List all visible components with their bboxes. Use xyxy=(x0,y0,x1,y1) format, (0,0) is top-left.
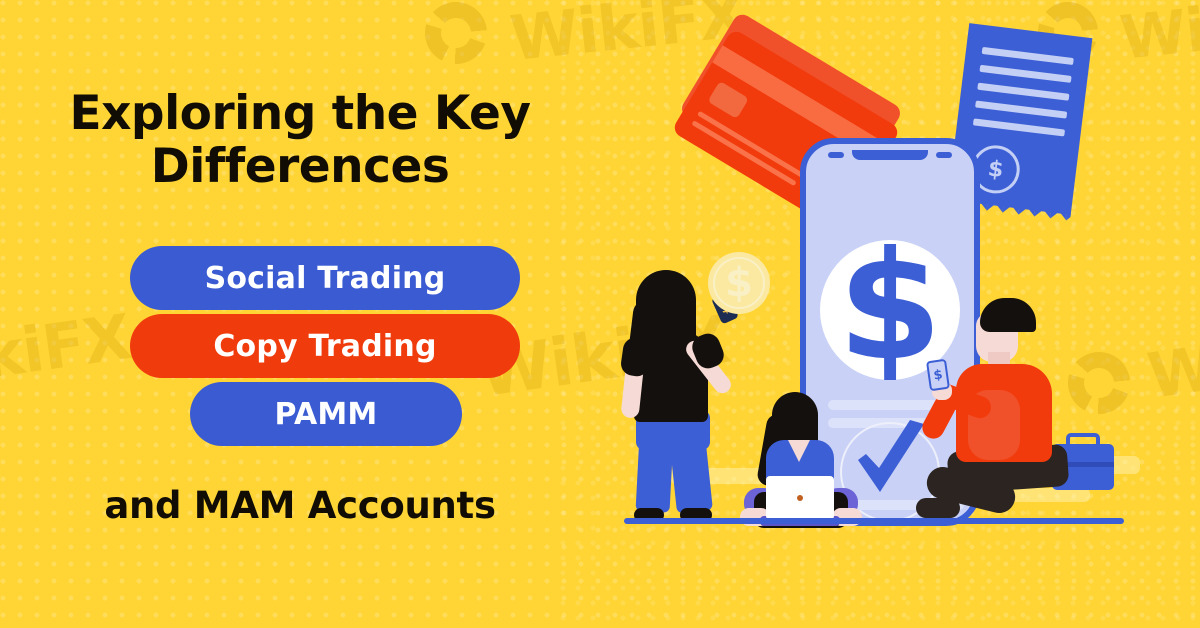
dollar-sign-icon: $ xyxy=(838,232,942,382)
coin-symbol: $ xyxy=(725,260,753,306)
illustration: $ $ xyxy=(560,0,1200,628)
subtitle: and MAM Accounts xyxy=(0,484,600,527)
pill-list: Social Trading Copy Trading PAMM xyxy=(0,246,600,446)
headline-line-2: Differences xyxy=(0,141,600,194)
card-chip xyxy=(707,81,749,119)
headline-line-1: Exploring the Key xyxy=(0,88,600,141)
kneeling-man xyxy=(932,298,1122,528)
dollar-coin: $ xyxy=(708,252,770,314)
phone-notch xyxy=(852,150,928,160)
pill-social-trading[interactable]: Social Trading xyxy=(130,246,520,310)
receipt-line xyxy=(977,83,1069,101)
pill-copy-trading[interactable]: Copy Trading xyxy=(130,314,520,378)
receipt-line xyxy=(982,47,1074,65)
page-title: Exploring the Key Differences xyxy=(0,88,600,193)
phone-speaker-left xyxy=(828,152,844,158)
pill-label: PAMM xyxy=(275,397,378,432)
seated-woman xyxy=(740,392,880,532)
laptop xyxy=(766,476,834,520)
receipt-line xyxy=(975,100,1067,118)
receipt-line xyxy=(979,65,1071,83)
phone-speaker-right xyxy=(936,152,952,158)
promo-banner: WikiFX WikiFX kiFX WikiFX Wi Exploring t… xyxy=(0,0,1200,628)
pill-label: Social Trading xyxy=(205,261,446,296)
receipt-line xyxy=(973,118,1065,136)
pill-pamm[interactable]: PAMM xyxy=(190,382,462,446)
phone-icon-held xyxy=(926,359,950,391)
pill-label: Copy Trading xyxy=(213,329,436,364)
hair xyxy=(980,298,1036,332)
card-line xyxy=(691,120,796,186)
wikifx-logo-watermark-top xyxy=(425,2,487,64)
ground-line xyxy=(624,518,1124,524)
